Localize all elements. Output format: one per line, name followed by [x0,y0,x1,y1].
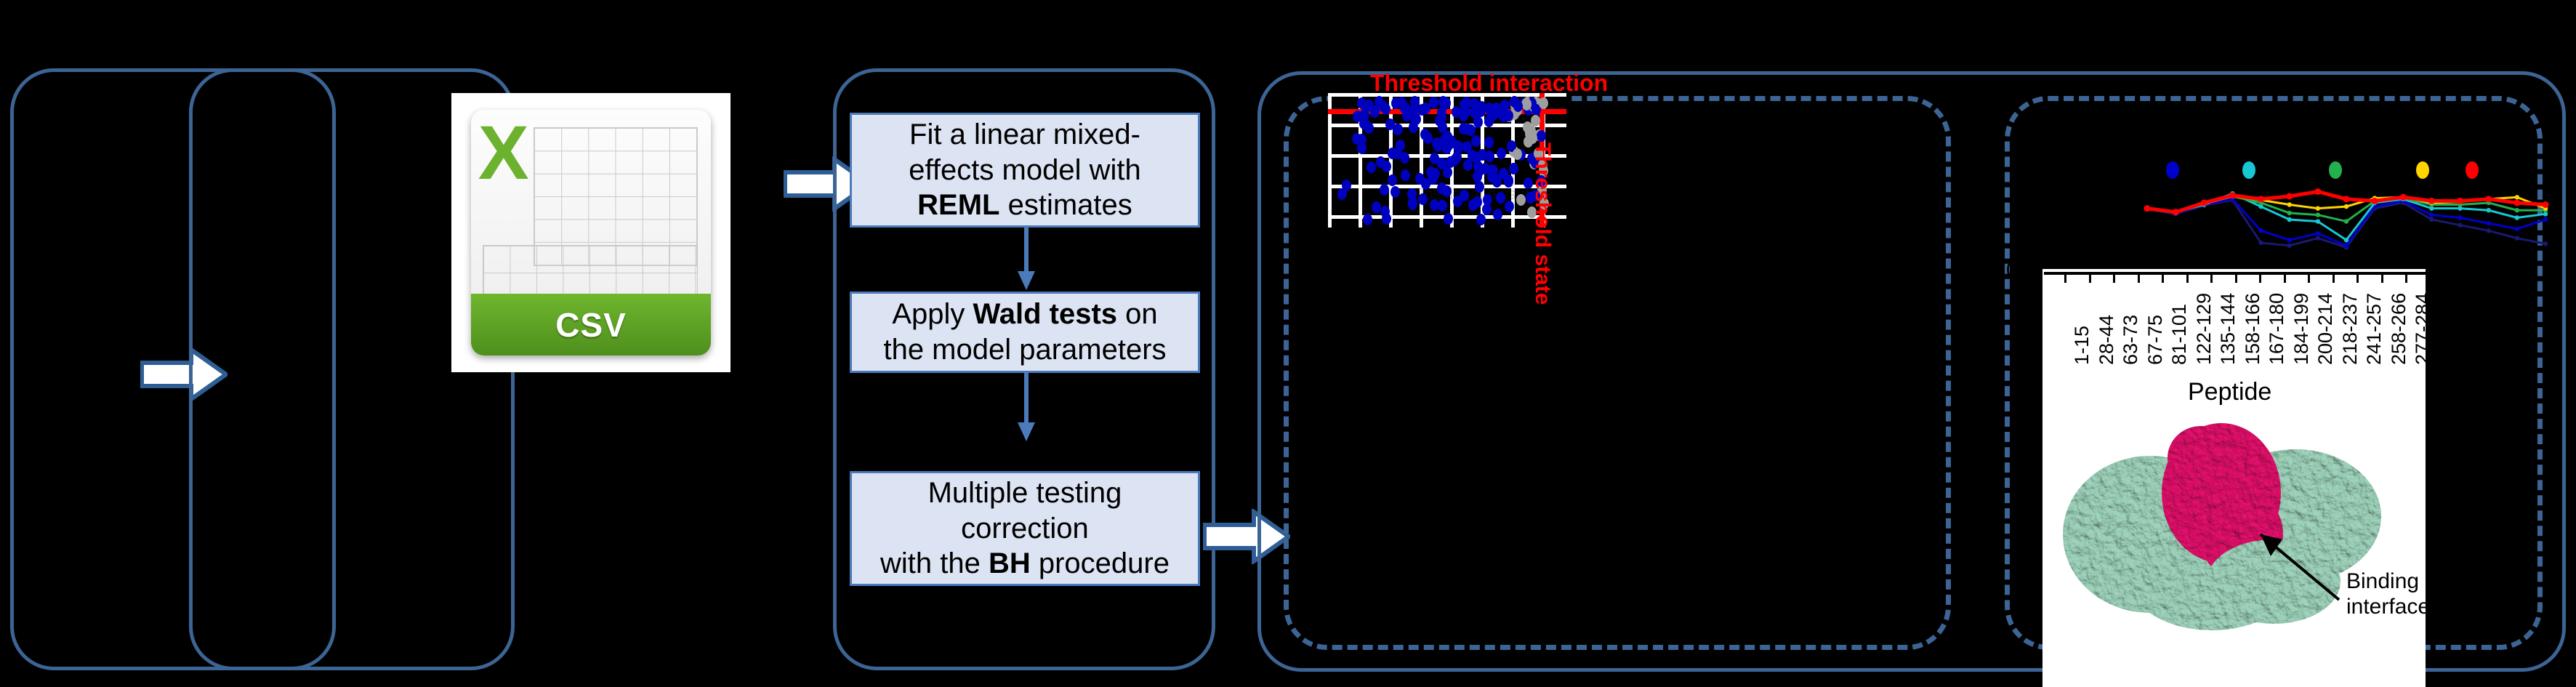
peptide-series-point [2487,228,2491,233]
peptide-series-point [2316,236,2320,240]
connector-wald-to-bh [1016,373,1037,443]
peptide-y-tick-label: 0.0 [1988,258,2018,283]
volcano-point [1471,135,1481,147]
peptide-x-label: 200-214 [2314,293,2337,365]
volcano-point [1442,142,1452,154]
volcano-point [1462,97,1471,108]
threshold-state-label: Threshold state [1530,142,1555,305]
legend-dot-5 [2466,161,2479,179]
peptide-series-point [2287,244,2292,248]
peptide-x-tick [2138,275,2140,283]
volcano-point [1444,213,1453,225]
peptide-series-point [2515,215,2519,220]
legend-dot-1 [2166,161,2179,179]
volcano-point [1475,181,1484,193]
peptide-series-point [2400,194,2407,201]
peptide-series-point [2316,206,2320,210]
binding-interface-line1: Binding [2346,569,2419,593]
volcano-point [1380,184,1389,196]
volcano-point [1493,209,1502,220]
peptide-series-point [2286,193,2293,200]
process-box-wald-tests-text: Apply Wald tests on the model parameters [883,297,1166,368]
peptide-x-tick [2405,275,2407,283]
peptide-series-point [2344,219,2348,223]
peptide-series-point [2258,196,2264,202]
peptide-series-point [2458,222,2462,227]
peptide-lineplot-svg [2143,169,2550,270]
binding-interface-line2: interface [2346,595,2430,619]
peptide-series-point [2457,198,2463,204]
peptide-series-point [2515,195,2519,199]
peptide-series-point [2515,208,2519,212]
peptide-x-label: 81-101 [2168,304,2191,365]
peptide-series-point [2428,198,2435,204]
volcano-point [1496,192,1505,204]
peptide-series-point [2229,192,2236,198]
peptide-x-tick [2333,275,2335,283]
peptide-series-point [2487,221,2491,225]
peptide-x-label: 67-75 [2144,315,2167,365]
peptide-series-point [2485,196,2492,202]
csv-x-letter: X [478,115,529,191]
peptide-axis-title: Peptide [2188,378,2271,406]
peptide-x-label: 218-237 [2339,293,2362,365]
peptide-series-point [2258,228,2263,233]
peptide-x-tick-labels: 1-1528-4463-7367-7581-101122-129135-1441… [2044,285,2426,372]
volcano-point [1497,148,1506,159]
peptide-series-point [2429,212,2434,217]
peptide-x-tick [2089,275,2091,283]
volcano-point [1410,113,1420,124]
process-box-fit-model-text: Fit a linear mixed- effects model with R… [909,117,1140,223]
peptide-series-point [2314,188,2321,195]
peptide-series-point [2173,209,2179,215]
volcano-point [1459,123,1468,134]
volcano-point [1473,196,1482,208]
peptide-series-point [2429,217,2434,222]
peptide-series-point [2287,238,2292,242]
peptide-series-point [2316,219,2320,223]
peptide-x-tick [2381,275,2383,283]
peptide-x-tick [2356,275,2359,283]
volcano-point [1505,201,1514,212]
peptide-x-label: 122-129 [2193,293,2215,365]
volcano-point [1437,158,1446,169]
peptide-series-point [2543,201,2549,208]
peptide-x-tick [2259,275,2261,283]
csv-file-icon: X CSV [451,93,730,372]
peptide-x-label: 258-266 [2388,293,2410,365]
peptide-series-point [2458,215,2462,220]
peptide-x-label: 28-44 [2096,315,2118,365]
peptide-x-label: 135-144 [2217,293,2239,365]
connector-fit-to-wald [1016,228,1037,292]
peptide-series-point [2343,196,2350,202]
peptide-series-point [2144,205,2151,212]
legend-dot-2 [2242,161,2255,179]
volcano-point [1393,124,1402,135]
peptide-series-point [2543,241,2548,246]
peptide-x-tick [2210,275,2213,283]
peptide-series-point [2201,199,2207,206]
volcano-point [1487,171,1497,182]
peptide-x-tick [2113,275,2115,283]
volcano-point [1363,214,1372,225]
peptide-x-tick [2186,275,2189,283]
csv-spreadsheet-grid-lower [483,245,698,300]
peptide-series-point [2372,198,2378,204]
volcano-point [1504,110,1513,121]
peptide-legend [2144,161,2551,182]
volcano-point [1430,199,1439,211]
peptide-series-point [2258,241,2263,245]
volcano-point [1453,196,1462,207]
peptide-x-label: 241-257 [2363,293,2386,365]
volcano-point [1429,97,1438,108]
volcano-point [1516,194,1526,206]
legend-dot-4 [2416,161,2429,179]
binding-interface-label: Binding interface [2346,569,2430,620]
peptide-x-label: 63-73 [2120,315,2142,365]
peptide-series-point [2344,244,2348,248]
peptide-x-label: 158-166 [2242,293,2264,365]
volcano-point [1509,163,1518,174]
volcano-point [1388,174,1397,186]
peptide-lineplot [2143,169,2550,270]
peptide-series-point [2344,238,2348,242]
volcano-point [1372,201,1381,213]
volcano-point [1388,148,1397,159]
peptide-series-point [2487,208,2491,212]
process-box-fit-model[interactable]: Fit a linear mixed- effects model with R… [850,113,1200,228]
peptide-x-label: 184-199 [2290,293,2313,365]
peptide-x-tick [2284,275,2286,283]
peptide-x-tick [2064,275,2066,283]
peptide-x-tick [2162,275,2164,283]
volcano-point [1484,137,1494,148]
peptide-series-point [2287,217,2292,222]
volcano-point [1367,161,1376,173]
peptide-x-ticks [2044,275,2426,284]
process-box-bh-correction-text: Multiple testing correction with the BH … [880,475,1170,582]
peptide-series-point [2515,236,2519,240]
csv-badge: X CSV [471,110,711,355]
peptide-series-point [2316,231,2320,236]
volcano-point [1513,148,1522,160]
volcano-point [1513,100,1523,112]
volcano-point [1426,166,1436,178]
peptide-series-point [2287,202,2292,206]
peptide-series-point [2316,212,2320,217]
peptide-x-label: 167-180 [2266,293,2288,365]
volcano-point [1504,174,1513,186]
peptide-series-point [2344,204,2348,209]
volcano-point [1442,185,1452,197]
process-box-bh-correction[interactable]: Multiple testing correction with the BH … [850,471,1200,586]
process-box-wald-tests[interactable]: Apply Wald tests on the model parameters [850,292,1200,373]
peptide-x-label: 1-15 [2071,326,2093,365]
peptide-series-point [2515,227,2519,231]
peptide-x-label: 277-284 [2412,293,2434,365]
peptide-series-point [2543,217,2548,222]
volcano-point [1522,98,1531,110]
legend-dot-3 [2329,161,2342,179]
volcano-point [1433,140,1443,152]
csv-extension-label: CSV [555,305,627,345]
volcano-point [1452,106,1461,118]
peptide-x-tick [2235,275,2237,283]
volcano-point [1418,193,1428,205]
volcano-point [1337,188,1347,200]
peptide-x-tick [2308,275,2310,283]
volcano-point [1539,97,1548,109]
csv-extension-band: CSV [471,294,711,355]
peptide-series-point [2287,211,2292,215]
peptide-series-point [2513,199,2520,206]
volcano-point [1471,152,1481,164]
